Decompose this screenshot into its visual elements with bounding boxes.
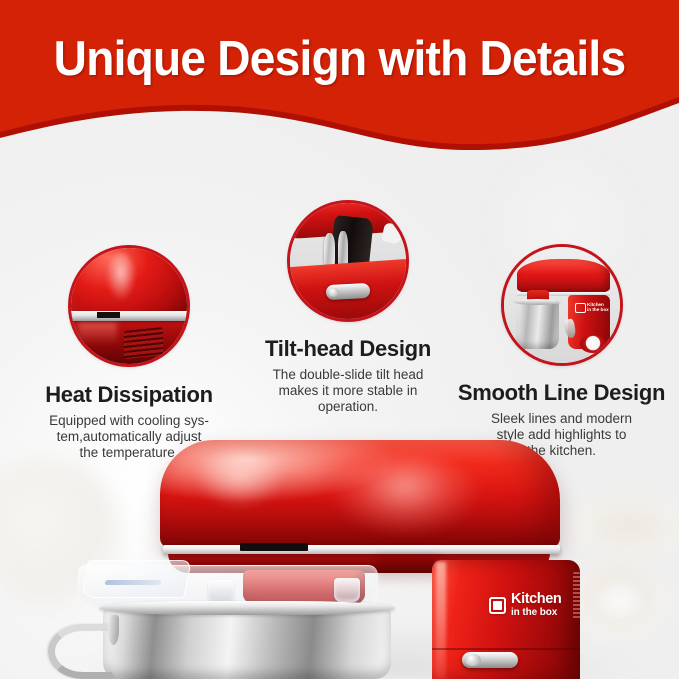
feature-tilt-head-design: Tilt-head Design The double-slide tilt h… <box>232 200 464 415</box>
mini-brand-text: Kitchenin the box <box>587 302 609 313</box>
mini-speed-dial-icon <box>580 335 606 352</box>
feature-heat-title: Heat Dissipation <box>0 382 258 408</box>
product-floor-shadow <box>60 619 649 679</box>
full-mixer-illustration: Kitchenin the box <box>504 247 620 363</box>
feature-smooth-line-design: Kitchenin the box Smooth Line Design Sle… <box>444 244 679 459</box>
tilt-head-hinge-illustration <box>290 203 406 319</box>
page-title: Unique Design with Details <box>20 29 658 89</box>
feature-heat-image <box>68 245 190 367</box>
feature-smooth-description: Sleek lines and modernstyle add highligh… <box>444 411 679 459</box>
background-pastry-blur <box>569 491 679 561</box>
feature-tilt-image <box>287 200 409 322</box>
mixer-head-vents-illustration <box>71 248 187 364</box>
header-banner: Unique Design with Details <box>0 0 679 150</box>
background-blur-left <box>0 459 120 609</box>
feature-smooth-image: Kitchenin the box <box>501 244 623 366</box>
mini-brand-mark-icon <box>575 303 585 313</box>
feature-tilt-description: The double-slide tilt headmakes it more … <box>232 367 464 415</box>
feature-tilt-title: Tilt-head Design <box>232 336 464 362</box>
feature-smooth-title: Smooth Line Design <box>444 380 679 406</box>
feature-heat-dissipation: Heat Dissipation Equipped with cooling s… <box>0 245 258 461</box>
feature-heat-description: Equipped with cooling sys-tem,automatica… <box>0 413 258 461</box>
